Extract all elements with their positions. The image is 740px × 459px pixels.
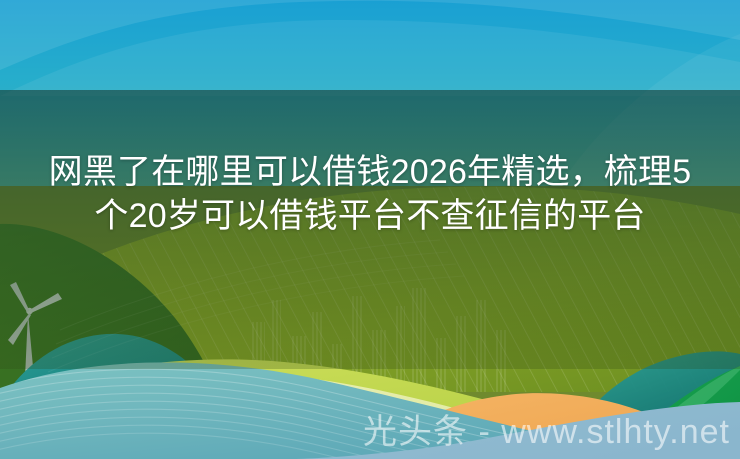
cover-image: 网黑了在哪里可以借钱2026年精选，梳理5个20岁可以借钱平台不查征信的平台 光… xyxy=(0,0,740,459)
page-title: 网黑了在哪里可以借钱2026年精选，梳理5个20岁可以借钱平台不查征信的平台 xyxy=(0,150,740,238)
